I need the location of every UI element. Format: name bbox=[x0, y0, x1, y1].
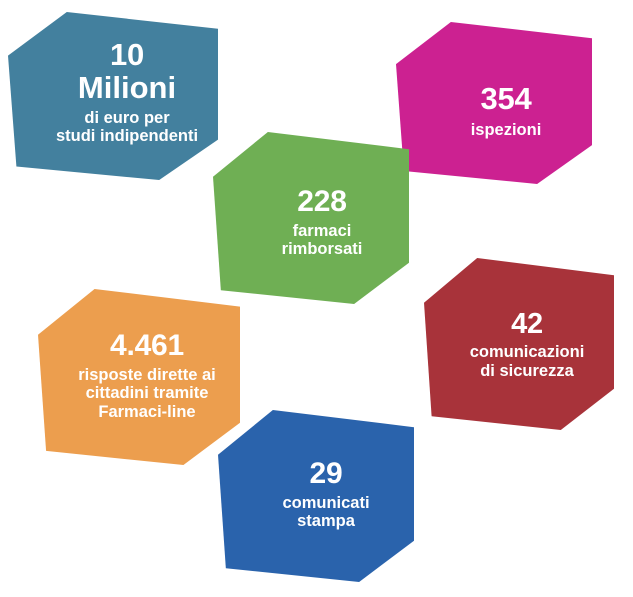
hexagon-milioni-label: di euro perstudi indipendenti bbox=[56, 109, 198, 146]
hexagon-farmaci-label: farmacirimborsati bbox=[282, 222, 363, 259]
hexagon-sicurezza: 42 comunicazionidi sicurezza bbox=[424, 258, 614, 430]
hexagon-infographic: 10 Milioni di euro perstudi indipendenti… bbox=[0, 0, 633, 597]
hexagon-farmaci: 228 farmacirimborsati bbox=[213, 132, 409, 304]
hexagon-stampa-content: 29 comunicatistampa bbox=[276, 457, 375, 531]
hexagon-sicurezza-label: comunicazionidi sicurezza bbox=[470, 343, 585, 380]
hexagon-stampa-label: comunicatistampa bbox=[282, 494, 369, 531]
hexagon-farmaci-content: 228 farmacirimborsati bbox=[276, 185, 369, 259]
hexagon-stampa-value: 29 bbox=[282, 457, 369, 491]
hexagon-ispezioni-value: 354 bbox=[471, 82, 542, 117]
hexagon-farmaciline-content: 4.461 risposte dirette aicittadini trami… bbox=[72, 329, 222, 421]
hexagon-milioni-content: 10 Milioni di euro perstudi indipendenti bbox=[50, 38, 204, 145]
hexagon-stampa: 29 comunicatistampa bbox=[218, 410, 414, 582]
hexagon-farmaciline: 4.461 risposte dirette aicittadini trami… bbox=[38, 289, 240, 465]
hexagon-ispezioni-content: 354 ispezioni bbox=[465, 82, 548, 139]
hexagon-ispezioni: 354 ispezioni bbox=[396, 22, 592, 184]
hexagon-milioni-value-unit: Milioni bbox=[56, 71, 198, 106]
hexagon-farmaciline-label: risposte dirette aicittadini tramiteFarm… bbox=[78, 366, 216, 421]
hexagon-milioni: 10 Milioni di euro perstudi indipendenti bbox=[8, 12, 218, 180]
hexagon-sicurezza-content: 42 comunicazionidi sicurezza bbox=[464, 308, 591, 380]
hexagon-milioni-value: 10 bbox=[56, 38, 198, 73]
hexagon-farmaci-value: 228 bbox=[282, 185, 363, 219]
hexagon-sicurezza-value: 42 bbox=[470, 308, 585, 340]
hexagon-ispezioni-label: ispezioni bbox=[471, 121, 542, 139]
hexagon-farmaciline-value: 4.461 bbox=[78, 329, 216, 363]
